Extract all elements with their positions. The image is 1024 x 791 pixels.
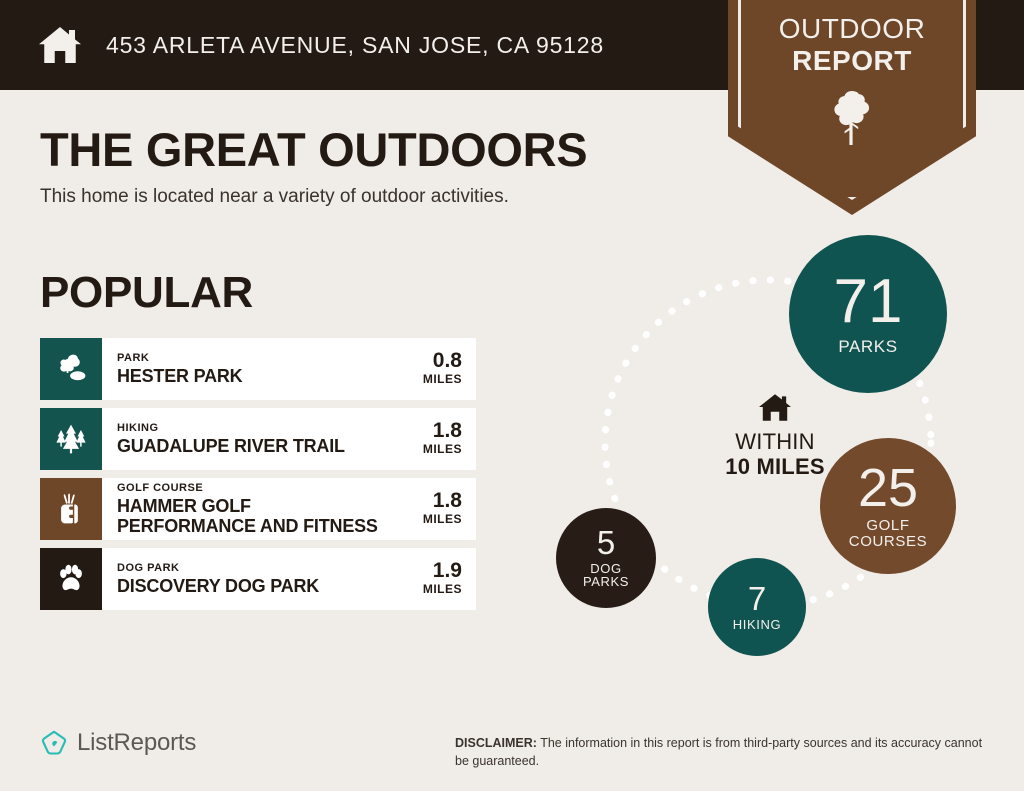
- stat-label: GOLF COURSES: [849, 518, 927, 550]
- list-item-distance: 1.8 MILES: [392, 478, 476, 540]
- paw-print-icon: [40, 548, 102, 610]
- list-item-distance: 1.9 MILES: [392, 548, 476, 610]
- tree-icon: [829, 89, 875, 145]
- disclaimer: DISCLAIMER: The information in this repo…: [455, 734, 995, 770]
- center-line-1: WITHIN: [680, 429, 870, 454]
- listreports-pin-icon: [40, 729, 68, 757]
- golf-bag-icon: [40, 478, 102, 540]
- list-item-category: HIKING: [117, 422, 392, 436]
- page-subtitle: This home is located near a variety of o…: [40, 186, 509, 208]
- distance-unit: MILES: [423, 372, 462, 388]
- home-icon: [36, 21, 84, 69]
- diagram-center-label: WITHIN 10 MILES: [680, 393, 870, 480]
- popular-list: PARK HESTER PARK 0.8 MILES HIKING GUADAL…: [40, 338, 476, 618]
- distance-value: 1.9: [433, 560, 462, 582]
- list-item-name: GUADALUPE RIVER TRAIL: [117, 436, 392, 456]
- list-item-name: HESTER PARK: [117, 366, 392, 386]
- list-item[interactable]: GOLF COURSE HAMMER GOLF PERFORMANCE AND …: [40, 478, 476, 540]
- distance-unit: MILES: [423, 512, 462, 528]
- list-item-body: HIKING GUADALUPE RIVER TRAIL: [102, 408, 392, 470]
- listreports-logo-text: ListReports: [77, 729, 196, 757]
- home-icon: [758, 393, 792, 423]
- stat-count: 71: [834, 273, 903, 332]
- stat-label: HIKING: [733, 618, 781, 632]
- section-title-popular: POPULAR: [40, 268, 253, 318]
- stat-circle-dog-parks[interactable]: 5 DOG PARKS: [556, 508, 656, 608]
- list-item-distance: 1.8 MILES: [392, 408, 476, 470]
- badge-content: OUTDOOR REPORT: [728, 14, 976, 145]
- stat-circle-hiking[interactable]: 7 HIKING: [708, 558, 806, 656]
- stat-count: 5: [597, 527, 615, 558]
- disclaimer-label: DISCLAIMER:: [455, 736, 537, 750]
- page-title: THE GREAT OUTDOORS: [40, 122, 587, 177]
- pine-trees-icon: [40, 408, 102, 470]
- list-item-distance: 0.8 MILES: [392, 338, 476, 400]
- list-item-body: GOLF COURSE HAMMER GOLF PERFORMANCE AND …: [102, 478, 392, 540]
- distance-value: 0.8: [433, 350, 462, 372]
- list-item[interactable]: PARK HESTER PARK 0.8 MILES: [40, 338, 476, 400]
- listreports-logo[interactable]: ListReports: [40, 729, 196, 757]
- list-item-body: PARK HESTER PARK: [102, 338, 392, 400]
- badge-line-1: OUTDOOR: [728, 14, 976, 45]
- list-item-category: PARK: [117, 352, 392, 366]
- stat-count: 7: [748, 583, 766, 614]
- distance-unit: MILES: [423, 582, 462, 598]
- distance-unit: MILES: [423, 442, 462, 458]
- list-item[interactable]: HIKING GUADALUPE RIVER TRAIL 1.8 MILES: [40, 408, 476, 470]
- list-item-name: HAMMER GOLF PERFORMANCE AND FITNESS: [117, 496, 392, 536]
- list-item-body: DOG PARK DISCOVERY DOG PARK: [102, 548, 392, 610]
- stat-label: DOG PARKS: [583, 562, 629, 589]
- list-item-name: DISCOVERY DOG PARK: [117, 576, 392, 596]
- park-tree-icon: [40, 338, 102, 400]
- center-line-2: 10 MILES: [680, 454, 870, 479]
- property-address: 453 ARLETA AVENUE, SAN JOSE, CA 95128: [106, 32, 604, 59]
- stat-label: PARKS: [838, 338, 897, 356]
- badge-line-2: REPORT: [728, 45, 976, 77]
- distance-value: 1.8: [433, 490, 462, 512]
- distance-value: 1.8: [433, 420, 462, 442]
- list-item[interactable]: DOG PARK DISCOVERY DOG PARK 1.9 MILES: [40, 548, 476, 610]
- list-item-category: DOG PARK: [117, 562, 392, 576]
- within-10-miles-diagram: 71 PARKS 25 GOLF COURSES 5 DOG PARKS 7 H…: [540, 225, 1010, 675]
- list-item-category: GOLF COURSE: [117, 482, 392, 496]
- stat-circle-parks[interactable]: 71 PARKS: [789, 235, 947, 393]
